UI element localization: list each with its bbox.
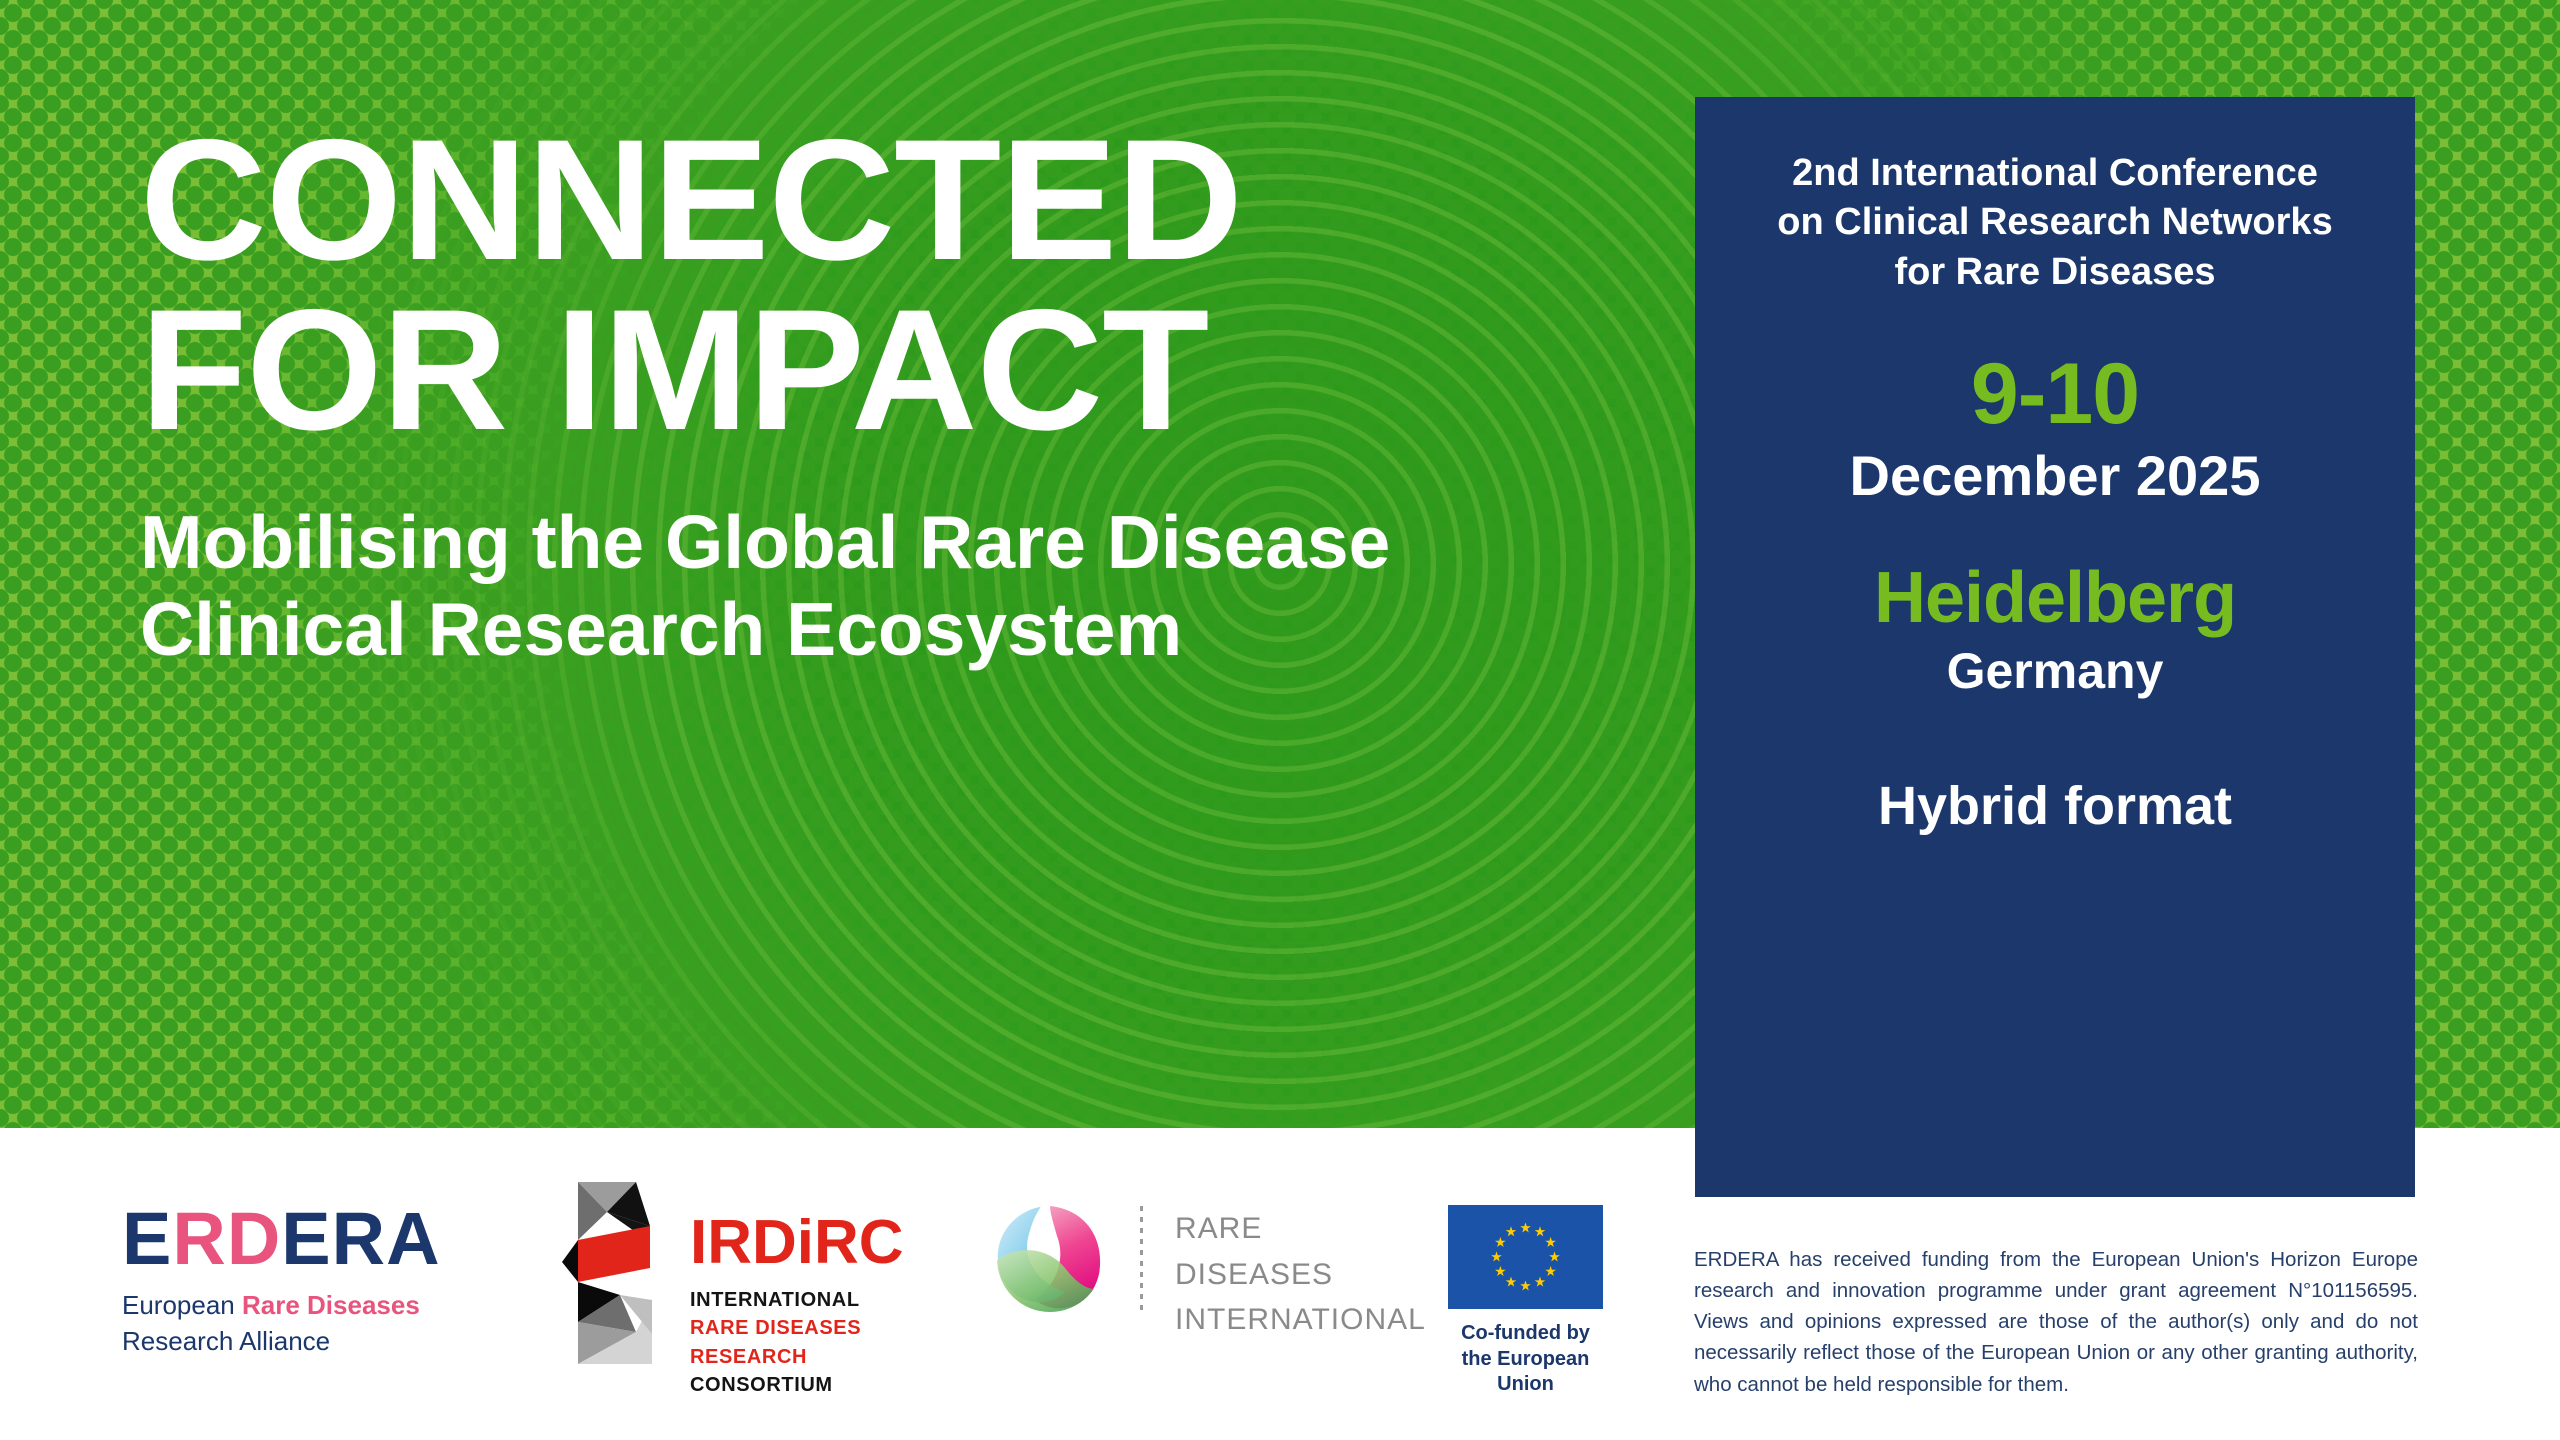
irdirc-chevron-icon [560,1182,665,1364]
eu-flag-icon [1448,1205,1603,1309]
erdera-tagline-line-1: European Rare Diseases [122,1288,502,1324]
conference-info-panel: 2nd International Conference on Clinical… [1695,97,2415,1197]
erdera-tagline: European Rare Diseases Research Alliance [122,1288,502,1360]
date-days: 9-10 [1737,351,2373,437]
erdera-tagline-rare-diseases: Rare Diseases [242,1290,420,1320]
erdera-letter-e: E [122,1197,172,1280]
funding-disclaimer: ERDERA has received funding from the Eur… [1694,1244,2418,1400]
erdera-tagline-european: European [122,1290,242,1320]
location-country: Germany [1737,644,2373,699]
erdera-tagline-line-2: Research Alliance [122,1324,502,1360]
rdi-wordmark: RARE DISEASES INTERNATIONAL [1175,1206,1426,1343]
erdera-letters-era: ERA [281,1197,440,1280]
headline-line-2: FOR IMPACT [140,290,1690,452]
subheadline-line-1: Mobilising the Global Rare Disease [140,499,1660,586]
irdirc-tagline-line-3: CONSORTIUM [690,1371,970,1399]
erdera-letter-d: D [227,1197,281,1280]
rdi-word-international: INTERNATIONAL [1175,1297,1426,1343]
eu-caption-line-1: Co-funded by [1448,1321,1603,1347]
erdera-letter-r: R [172,1197,226,1280]
subheadline-line-2: Clinical Research Ecosystem [140,586,1660,673]
conference-location: Heidelberg Germany [1737,562,2373,699]
irdirc-logo: IRDiRC INTERNATIONAL RARE DISEASES RESEA… [560,1182,960,1362]
conference-title-line-1: 2nd International Conference [1737,149,2373,198]
erdera-wordmark: ERDERA [122,1202,502,1276]
erdera-logo: ERDERA European Rare Diseases Research A… [122,1202,502,1360]
rdi-dotted-divider [1140,1206,1143,1310]
rdi-sphere-icon [995,1204,1105,1314]
rdi-word-rare: RARE [1175,1206,1426,1252]
rare-diseases-international-logo: RARE DISEASES INTERNATIONAL [995,1200,1395,1340]
date-month-year: December 2025 [1737,445,2373,508]
headline-line-1: CONNECTED [140,120,1690,282]
eu-caption-line-2: the European Union [1448,1347,1603,1398]
conference-format: Hybrid format [1737,777,2373,836]
conference-title-line-2: on Clinical Research Networks [1737,198,2373,247]
irdirc-tagline-line-2: RARE DISEASES RESEARCH [690,1314,970,1371]
conference-title: 2nd International Conference on Clinical… [1737,149,2373,297]
conference-dates: 9-10 December 2025 [1737,351,2373,508]
eu-funding-logo: Co-funded by the European Union [1448,1205,1613,1398]
eu-caption: Co-funded by the European Union [1448,1321,1603,1398]
irdirc-wordmark: IRDiRC [690,1212,970,1274]
location-city: Heidelberg [1737,562,2373,634]
rdi-word-diseases: DISEASES [1175,1252,1426,1298]
irdirc-tagline: INTERNATIONAL RARE DISEASES RESEARCH CON… [690,1286,970,1400]
irdirc-tagline-line-1: INTERNATIONAL [690,1286,970,1314]
irdirc-text-block: IRDiRC INTERNATIONAL RARE DISEASES RESEA… [690,1212,970,1400]
headline-block: CONNECTED FOR IMPACT Mobilising the Glob… [140,120,1660,673]
subheadline: Mobilising the Global Rare Disease Clini… [140,499,1660,673]
conference-title-line-3: for Rare Diseases [1737,248,2373,297]
conference-banner: CONNECTED FOR IMPACT Mobilising the Glob… [0,0,2560,1440]
